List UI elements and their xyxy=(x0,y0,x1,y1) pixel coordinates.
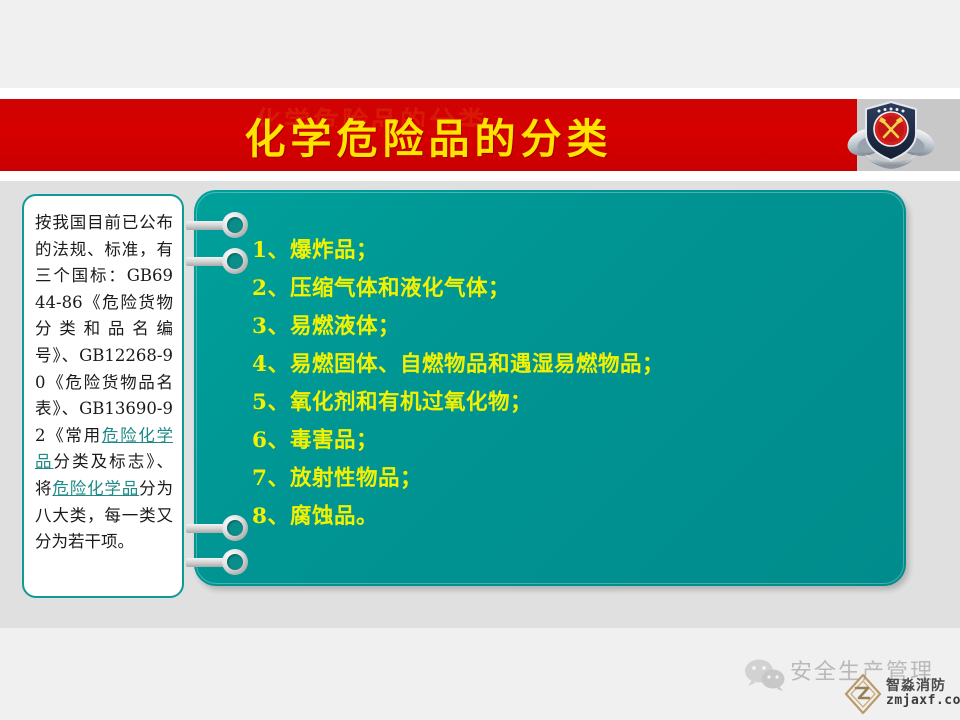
connector-pin-4 xyxy=(186,549,248,575)
list-item: 5、氧化剂和有机过氧化物； xyxy=(252,384,892,422)
connector-pin-3 xyxy=(186,515,248,541)
list-item: 6、毒害品； xyxy=(252,422,892,460)
list-item: 4、易燃固体、自燃物品和遇湿易燃物品； xyxy=(252,346,892,384)
page-title: 化学危险品的分类 xyxy=(0,99,857,171)
list-item-label: 压缩气体和液化气体； xyxy=(290,276,510,301)
background-band-top xyxy=(0,0,960,88)
list-item: 1、爆炸品； xyxy=(252,232,892,270)
list-item-number: 3、 xyxy=(252,308,290,346)
background-band-white-strip xyxy=(0,88,960,99)
list-item: 8、腐蚀品。 xyxy=(252,498,892,536)
watermark-brand: 智淼消防 xyxy=(886,675,946,695)
connector-pin-2 xyxy=(186,248,248,274)
list-item-number: 1、 xyxy=(252,232,290,270)
list-item-label: 氧化剂和有机过氧化物； xyxy=(290,390,532,415)
list-item-label: 易燃固体、自燃物品和遇湿易燃物品； xyxy=(290,352,664,377)
list-item-number: 8、 xyxy=(252,498,290,536)
list-item-label: 放射性物品； xyxy=(290,466,422,491)
list-item-label: 易燃液体； xyxy=(290,314,400,339)
connector-ring-icon xyxy=(222,515,248,541)
list-item: 2、压缩气体和液化气体； xyxy=(252,270,892,308)
list-item-number: 7、 xyxy=(252,460,290,498)
list-item: 7、放射性物品； xyxy=(252,460,892,498)
connector-ring-icon xyxy=(222,549,248,575)
list-item-number: 5、 xyxy=(252,384,290,422)
list-item-label: 腐蚀品。 xyxy=(290,504,378,529)
slide-root: 化学危险品的分类 化学危险品的分类 xyxy=(0,0,960,720)
list-item-label: 爆炸品； xyxy=(290,238,378,263)
list-item-number: 4、 xyxy=(252,346,290,384)
note-box: 按我国目前已公布的法规、标准，有三个国标：GB6944-86《危险货物分类和品名… xyxy=(22,194,184,598)
background-band-white-under xyxy=(0,171,960,181)
note-segment-1: 按我国目前已公布的法规、标准，有三个国标：GB6944-86《危险货物分类和品名… xyxy=(35,213,173,445)
connector-ring-icon xyxy=(222,248,248,274)
connector-pin-1 xyxy=(186,212,248,238)
list-item: 3、易燃液体； xyxy=(252,308,892,346)
fire-service-emblem-icon xyxy=(845,96,937,176)
list-item-label: 毒害品； xyxy=(290,428,378,453)
connector-ring-icon xyxy=(222,212,248,238)
list-item-number: 6、 xyxy=(252,422,290,460)
watermark: 安全生产管理 智淼消防 zmjaxf.com xyxy=(740,648,958,714)
list-item-number: 2、 xyxy=(252,270,290,308)
hazardous-chemicals-link-2[interactable]: 危险化学品 xyxy=(52,479,139,498)
classification-list: 1、爆炸品； 2、压缩气体和液化气体； 3、易燃液体； 4、易燃固体、自燃物品和… xyxy=(252,232,892,536)
watermark-url: zmjaxf.com xyxy=(886,693,960,708)
wechat-icon xyxy=(744,658,786,692)
note-text: 按我国目前已公布的法规、标准，有三个国标：GB6944-86《危险货物分类和品名… xyxy=(35,210,173,556)
brand-logo-icon xyxy=(844,674,882,714)
